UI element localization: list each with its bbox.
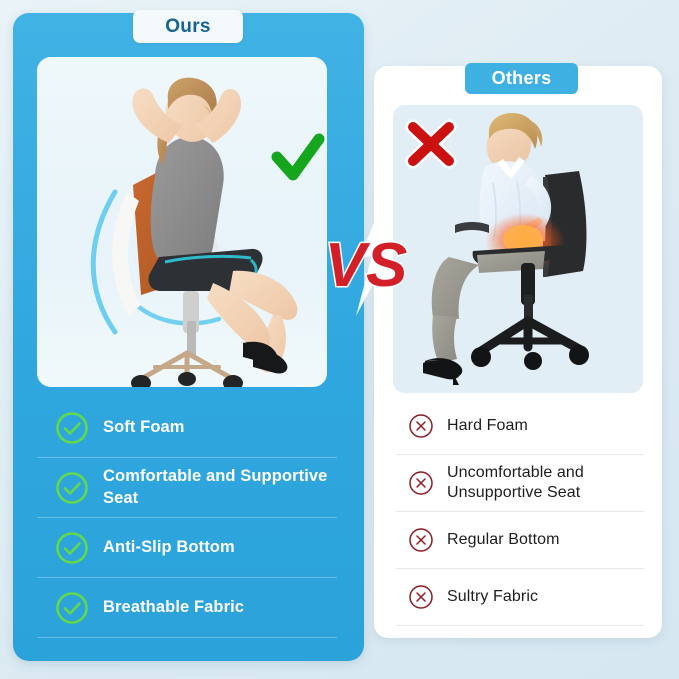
list-item-label: Hard Foam [447, 416, 528, 436]
others-chair-illustration [393, 105, 643, 393]
ours-badge-label: Ours [165, 16, 211, 38]
others-badge: Others [465, 63, 578, 94]
ours-chair-illustration [37, 57, 327, 387]
list-item: Anti-Slip Bottom [37, 518, 337, 578]
check-circle-icon [55, 591, 89, 625]
ours-image-card [37, 57, 327, 387]
list-item: Regular Bottom [396, 512, 644, 569]
list-item: Soft Foam [37, 398, 337, 458]
x-circle-icon [408, 470, 434, 496]
list-item: Sultry Fabric [396, 569, 644, 626]
list-item-label: Soft Foam [103, 417, 185, 438]
list-item: Uncomfortable and Unsupportive Seat [396, 455, 644, 512]
list-item-label: Comfortable and Supportive Seat [103, 466, 337, 508]
check-circle-icon [55, 471, 89, 505]
others-image-card [393, 105, 643, 393]
x-circle-icon [408, 527, 434, 553]
list-item-label: Uncomfortable and Unsupportive Seat [447, 463, 644, 504]
check-circle-icon [55, 531, 89, 565]
check-circle-icon [55, 411, 89, 445]
ours-feature-list: Soft Foam Comfortable and Supportive Sea… [37, 398, 337, 638]
others-feature-list: Hard Foam Uncomfortable and Unsupportive… [396, 398, 644, 626]
list-item: Comfortable and Supportive Seat [37, 458, 337, 518]
list-item: Breathable Fabric [37, 578, 337, 638]
comparison-infographic: Ours [0, 0, 679, 679]
ours-badge: Ours [133, 10, 243, 43]
versus-badge: VS [316, 212, 420, 316]
x-circle-icon [408, 413, 434, 439]
list-item-label: Sultry Fabric [447, 587, 538, 607]
list-item-label: Anti-Slip Bottom [103, 537, 235, 558]
x-circle-icon [408, 584, 434, 610]
versus-label: VS [325, 231, 408, 300]
others-badge-label: Others [492, 68, 552, 89]
list-item-label: Regular Bottom [447, 530, 560, 550]
list-item-label: Breathable Fabric [103, 597, 244, 618]
list-item: Hard Foam [396, 398, 644, 455]
